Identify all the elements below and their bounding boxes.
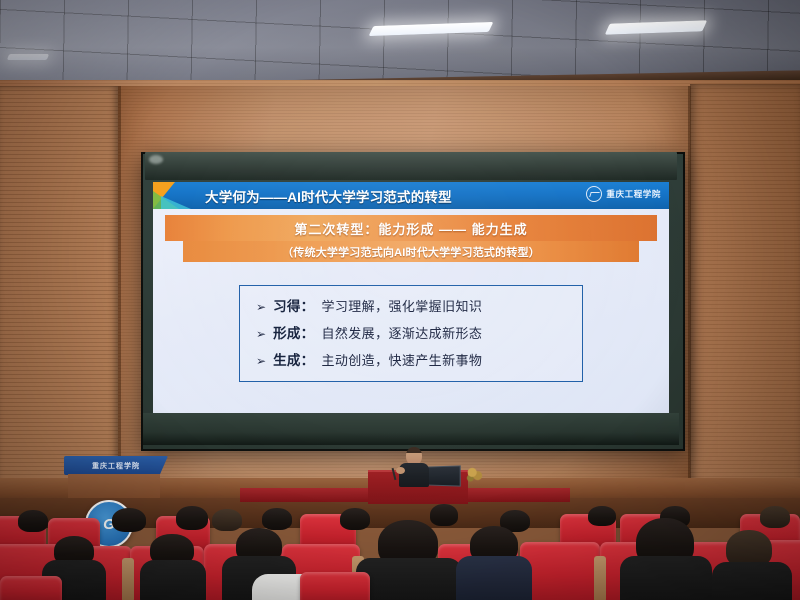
audience-member [18, 510, 48, 532]
audience-member [176, 506, 208, 530]
bullet-arrow-icon: ➢ [256, 354, 266, 368]
university-emblem-icon [586, 186, 602, 202]
audience-member [430, 504, 458, 526]
auditorium-seat [520, 542, 600, 600]
side-lectern: 重庆工程学院 [64, 456, 168, 498]
slide-logo-name: 重庆工程学院 [606, 188, 661, 200]
auditorium-seat [300, 572, 370, 600]
slide-university-logo: 重庆工程学院 [586, 186, 661, 202]
seat-armrest [594, 556, 606, 600]
slide-subheading-band: （传统大学学习范式向AI时代大学学习范式的转型） [183, 241, 639, 262]
presenter-body [399, 463, 429, 487]
audience-member-torso [140, 560, 206, 600]
wall-seam [688, 86, 691, 486]
list-item: ➢ 生成： 主动创造，快速产生新事物 [256, 349, 582, 376]
ceiling-light-panel [7, 54, 49, 60]
audience-member [112, 508, 146, 532]
screen-lower-mat [143, 413, 679, 445]
bullet-arrow-icon: ➢ [256, 327, 266, 341]
list-item: ➢ 习得： 学习理解，强化掌握旧知识 [256, 295, 582, 322]
slide-subheading: （传统大学学习范式向AI时代大学学习范式的转型） [282, 244, 540, 260]
bullet-arrow-icon: ➢ [256, 300, 266, 314]
lectern-sign-text: 重庆工程学院 [92, 461, 140, 471]
bullet-key: 形成： [273, 322, 314, 342]
lecture-hall-scene: 大学何为——AI时代大学学习范式的转型 重庆工程学院 第二次转型：能力形成 ——… [0, 0, 800, 600]
bullet-value: 主动创造，快速产生新事物 [321, 350, 482, 369]
audience-member [262, 508, 292, 530]
audience-seating-area: 12 [0, 500, 800, 600]
slide-accent-triangles-icon [153, 182, 193, 209]
laptop-icon [425, 465, 460, 486]
slide-title: 大学何为——AI时代大学学习范式的转型 [205, 186, 452, 206]
audience-member [760, 506, 790, 528]
slide-title-bar: 大学何为——AI时代大学学习范式的转型 重庆工程学院 [153, 182, 669, 209]
audience-member [340, 508, 370, 530]
bullet-value: 学习理解，强化掌握旧知识 [321, 296, 482, 315]
screen-roller-housing [145, 152, 677, 180]
bullet-key: 习得： [273, 295, 314, 315]
slide-heading: 第二次转型：能力形成 —— 能力生成 [294, 219, 527, 238]
lectern-nameplate: 重庆工程学院 [64, 456, 168, 475]
presenter-hand [396, 467, 405, 474]
seat-armrest [122, 558, 134, 600]
auditorium-seat [0, 576, 62, 600]
presenter-figure [399, 447, 429, 485]
wall-seam [118, 86, 121, 486]
list-item: ➢ 形成： 自然发展，逐渐达成新形态 [256, 322, 582, 349]
lectern-body [68, 474, 160, 498]
bullet-value: 自然发展，逐渐达成新形态 [321, 323, 482, 342]
presentation-slide: 大学何为——AI时代大学学习范式的转型 重庆工程学院 第二次转型：能力形成 ——… [153, 182, 669, 414]
flower-arrangement-icon [465, 466, 483, 482]
audience-member-torso [712, 562, 792, 600]
audience-member-torso [620, 556, 712, 600]
slide-bullet-box: ➢ 习得： 学习理解，强化掌握旧知识 ➢ 形成： 自然发展，逐渐达成新形态 ➢ … [239, 285, 583, 382]
audience-member-torso [356, 558, 462, 600]
audience-member [212, 509, 242, 531]
bullet-key: 生成： [273, 349, 314, 369]
left-wall-panel [0, 86, 118, 486]
audience-member-torso [456, 556, 532, 600]
slide-heading-band: 第二次转型：能力形成 —— 能力生成 [165, 215, 657, 241]
right-wall-panel [690, 84, 800, 504]
audience-member [588, 506, 616, 526]
